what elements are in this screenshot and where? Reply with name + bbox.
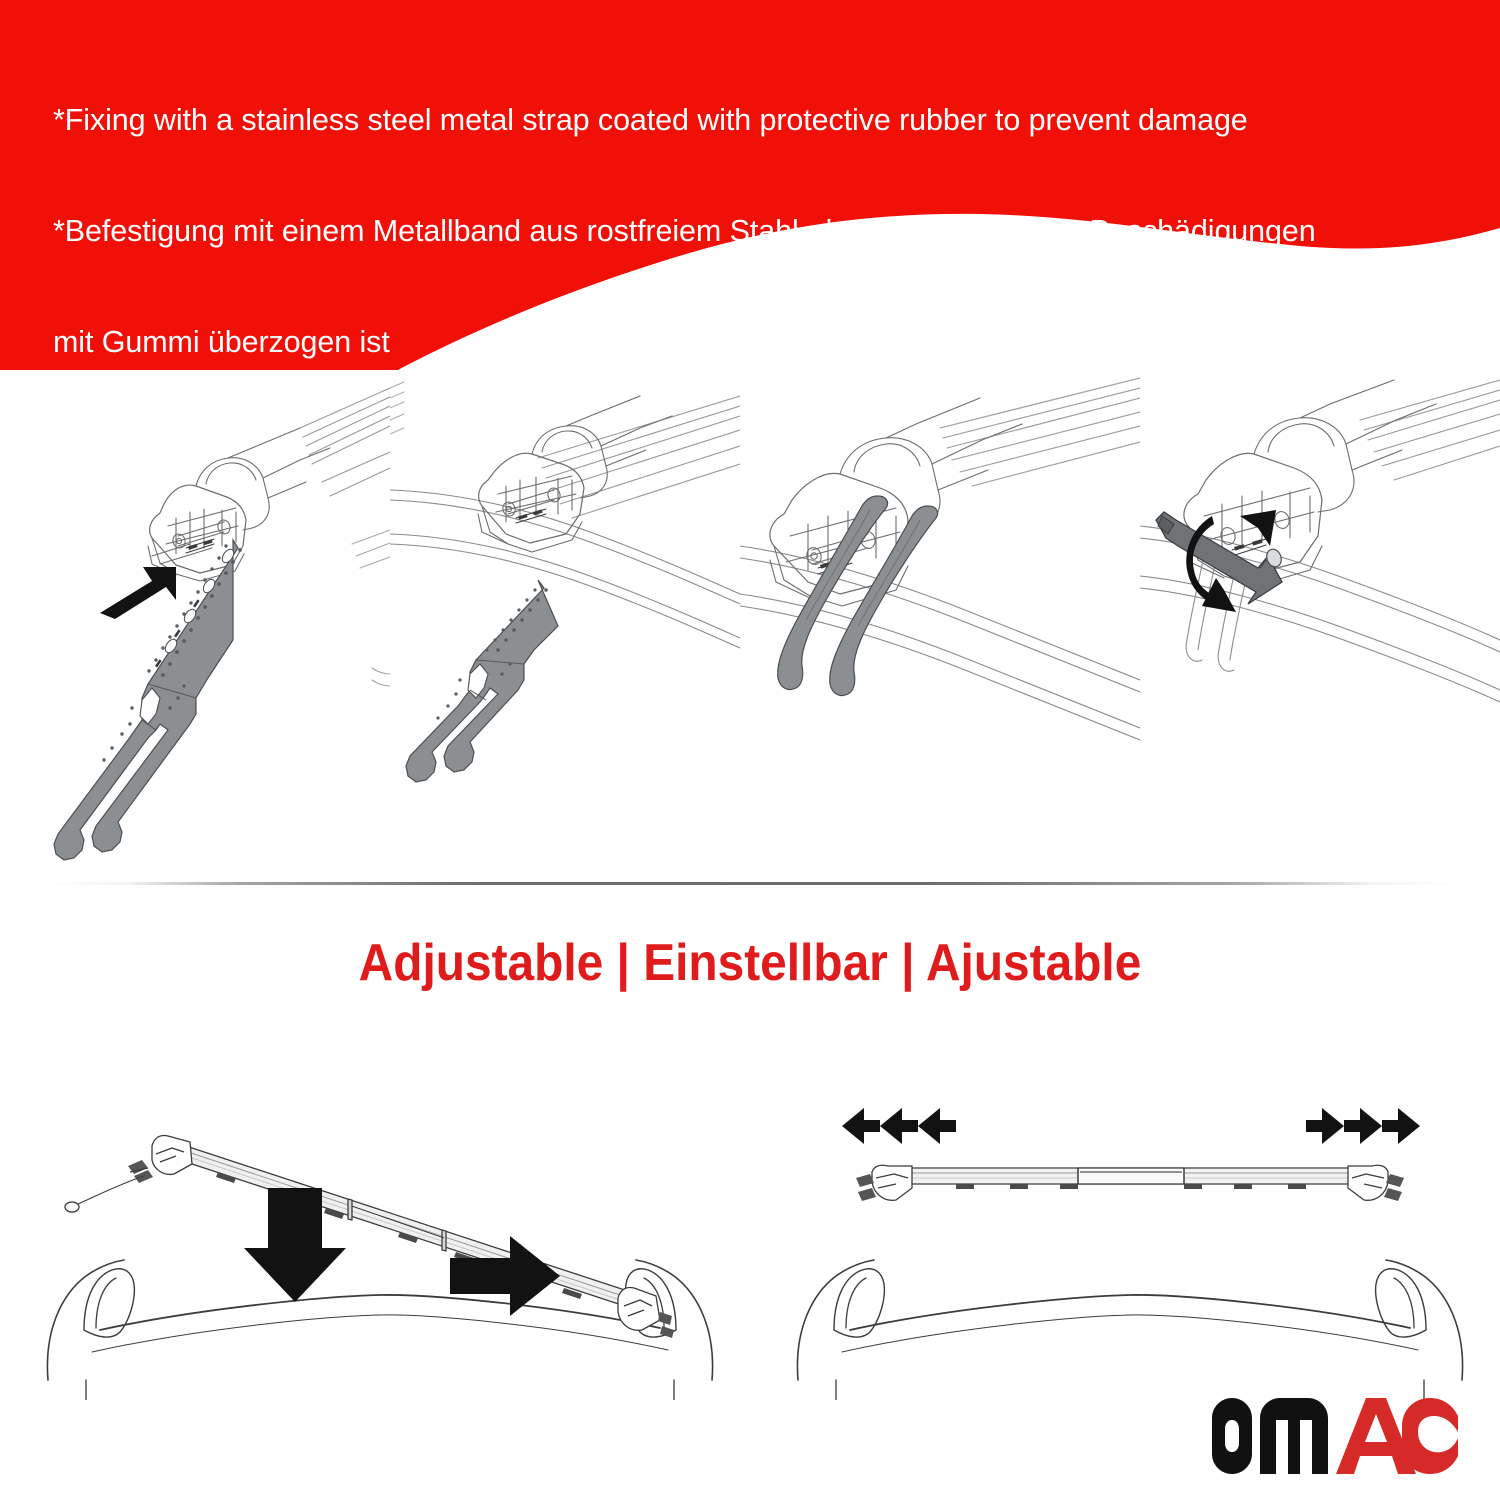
installation-steps-row — [0, 368, 1500, 868]
triple-right-arrow-icon — [1306, 1108, 1420, 1144]
diagram-place-crossbar-on-roof — [0, 1080, 760, 1400]
step-1-illustration — [0, 368, 390, 868]
banner-text-block: *Fixing with a stainless steel metal str… — [53, 28, 1453, 370]
omac-logo-mark — [1208, 1398, 1458, 1474]
crossbar — [856, 1165, 1404, 1201]
step-3-strap-wrapped-around-rail — [740, 368, 1140, 868]
step-2-illustration — [390, 368, 740, 868]
step-2-foot-placed-on-roof-rail — [390, 368, 740, 868]
step-4-tighten-bolt-with-hex-key — [1140, 368, 1500, 868]
metal-strap — [406, 580, 558, 782]
logo-letter-m — [1260, 1398, 1328, 1474]
banner-line-en: *Fixing with a stainless steel metal str… — [53, 102, 1453, 139]
diagram-adjust-crossbar-width — [760, 1080, 1500, 1400]
omac-logo — [1208, 1398, 1458, 1474]
triple-left-arrow-icon — [842, 1108, 956, 1144]
red-banner: *Fixing with a stainless steel metal str… — [0, 0, 1500, 370]
banner-line-de2: mit Gummi überzogen ist — [53, 324, 1453, 361]
step-3-illustration — [740, 368, 1140, 868]
step-1-insert-strap-into-foot — [0, 368, 390, 868]
logo-letter-o — [1212, 1398, 1252, 1474]
adjustable-diagrams-row — [0, 1080, 1500, 1400]
wrapped-strap-bands — [778, 496, 938, 696]
banner-line-de1: *Befestigung mit einem Metallband aus ro… — [53, 213, 1453, 250]
product-info-page: *Fixing with a stainless steel metal str… — [0, 0, 1500, 1500]
section-divider — [40, 882, 1460, 885]
logo-letter-c — [1402, 1398, 1458, 1474]
step-4-illustration — [1140, 368, 1500, 868]
page-title: Adjustable | Einstellbar | Ajustable — [60, 933, 1440, 993]
place-crossbar-illustration — [0, 1080, 760, 1400]
adjust-crossbar-illustration — [760, 1080, 1500, 1400]
crossbar — [65, 1135, 674, 1338]
